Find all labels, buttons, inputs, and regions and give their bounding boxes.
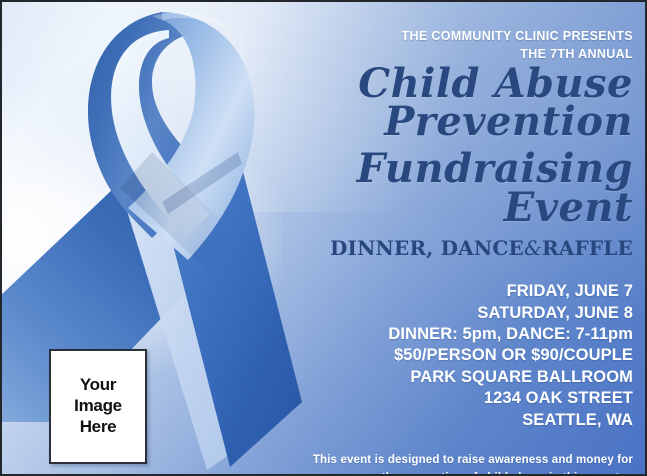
ticket-content: THE COMMUNITY CLINIC PRESENTS THE 7TH AN…	[241, 2, 633, 476]
title-subtitle: DINNER, DANCE&RAFFLE	[241, 236, 633, 260]
detail-line: FRIDAY, JUNE 7	[241, 281, 633, 302]
subtitle-left: DINNER, DANCE	[330, 236, 524, 260]
presenter-line: THE COMMUNITY CLINIC PRESENTS	[241, 28, 633, 46]
subtitle-ampersand: &	[524, 236, 542, 260]
description-line: the prevention of child abuse in this co…	[241, 470, 633, 476]
detail-line: PARK SQUARE BALLROOM	[241, 367, 633, 388]
image-placeholder-line-2: Image	[74, 396, 122, 417]
event-ticket-flyer: Your Image Here THE COMMUNITY CLINIC PRE…	[0, 0, 647, 476]
image-placeholder-line-1: Your	[80, 375, 116, 396]
detail-line: $50/PERSON OR $90/COUPLE	[241, 345, 633, 366]
presenter-block: THE COMMUNITY CLINIC PRESENTS THE 7TH AN…	[241, 28, 633, 64]
event-description: This event is designed to raise awarenes…	[241, 452, 633, 476]
detail-line: SEATTLE, WA	[241, 410, 633, 431]
event-details-list: FRIDAY, JUNE 7 SATURDAY, JUNE 8 DINNER: …	[241, 281, 633, 431]
image-placeholder-line-3: Here	[80, 417, 117, 438]
title-script-line-1: Child Abuse Prevention	[241, 65, 633, 142]
detail-line: 1234 OAK STREET	[241, 388, 633, 409]
subtitle-right: RAFFLE	[542, 236, 633, 260]
image-placeholder[interactable]: Your Image Here	[49, 349, 147, 464]
detail-line: DINNER: 5pm, DANCE: 7-11pm	[241, 324, 633, 345]
detail-line: SATURDAY, JUNE 8	[241, 303, 633, 324]
description-line: This event is designed to raise awarenes…	[241, 452, 633, 470]
title-script-line-2: Fundraising Event	[241, 150, 633, 227]
